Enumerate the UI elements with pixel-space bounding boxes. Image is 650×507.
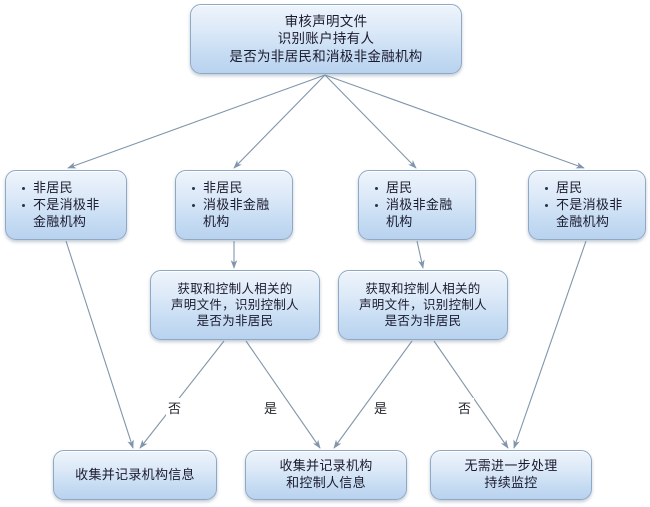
node-c2-bullet-1: 非居民 [192,180,288,197]
node-p1-text: 获取和控制人相关的 声明文件，识别控制人 是否为非居民 [151,281,319,329]
edge-label-yes-right: 是 [372,398,390,417]
edge-c1-o1 [66,241,133,448]
edge-p2-o2 [334,341,412,448]
node-c3-bullet-2: 消极非金融 机构 [375,197,471,230]
node-c4-bullet-1: 居民 [545,180,641,197]
edge-label-no-left: 否 [166,398,184,417]
edge-c3-p2 [417,241,423,268]
node-c2-bullet-2: 消极非金融 机构 [192,197,288,230]
node-category-nonresident-passive[interactable]: 非居民 消极非金融 机构 [175,170,293,240]
edge-label-no-right: 否 [456,398,474,417]
edge-root-c3 [325,75,416,168]
node-c3-list: 居民 消极非金融 机构 [359,179,475,232]
node-category-resident-passive[interactable]: 居民 消极非金融 机构 [358,170,476,240]
flowchart-canvas: 审核声明文件 识别账户持有人 是否为非居民和消极非金融机构 非居民 不是消极非 … [0,0,650,507]
node-outcome-record-entity-and-controller-info[interactable]: 收集并记录机构 和控制人信息 [245,450,407,500]
edge-root-c4 [325,75,584,168]
node-outcome-no-further-action[interactable]: 无需进一步处理 持续监控 [430,450,592,500]
node-category-resident-active[interactable]: 居民 不是消极非 金融机构 [528,170,646,240]
node-c1-bullet-1: 非居民 [22,180,122,197]
node-root-text: 审核声明文件 识别账户持有人 是否为非居民和消极非金融机构 [191,13,461,65]
node-category-nonresident-active[interactable]: 非居民 不是消极非 金融机构 [5,170,127,240]
edge-c4-o3 [514,241,586,448]
node-o1-text: 收集并记录机构信息 [54,467,216,484]
node-c4-bullet-2: 不是消极非 金融机构 [545,197,641,230]
node-c1-bullet-2: 不是消极非 金融机构 [22,197,122,230]
node-c4-list: 居民 不是消极非 金融机构 [529,179,645,232]
edge-p1-o2 [246,341,320,448]
node-c2-list: 非居民 消极非金融 机构 [176,179,292,232]
node-c1-list: 非居民 不是消极非 金融机构 [6,179,126,232]
node-process-identify-controller-left[interactable]: 获取和控制人相关的 声明文件，识别控制人 是否为非居民 [150,270,320,340]
node-process-identify-controller-right[interactable]: 获取和控制人相关的 声明文件，识别控制人 是否为非居民 [338,270,508,340]
node-p2-text: 获取和控制人相关的 声明文件，识别控制人 是否为非居民 [339,281,507,329]
node-outcome-record-entity-info[interactable]: 收集并记录机构信息 [53,450,217,500]
node-review-declaration-root[interactable]: 审核声明文件 识别账户持有人 是否为非居民和消极非金融机构 [190,4,462,74]
edge-p1-o1 [140,341,224,448]
edge-p2-o3 [434,341,508,448]
edge-root-c2 [234,75,325,168]
edge-root-c1 [68,75,325,168]
node-c3-bullet-1: 居民 [375,180,471,197]
edge-label-yes-left: 是 [262,398,280,417]
node-o3-text: 无需进一步处理 持续监控 [431,458,591,491]
flowchart-connectors [0,0,650,507]
node-o2-text: 收集并记录机构 和控制人信息 [246,458,406,491]
